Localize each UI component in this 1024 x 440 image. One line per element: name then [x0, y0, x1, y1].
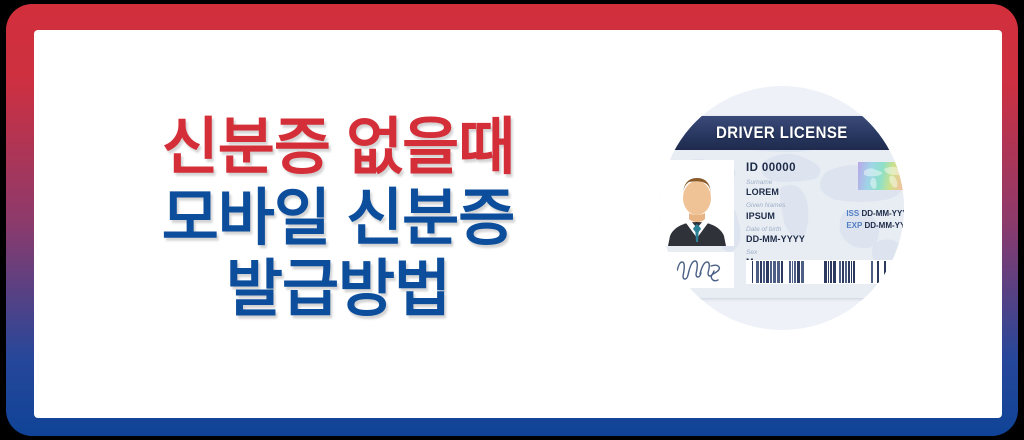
- barcode: [746, 260, 904, 284]
- signature-box: [660, 252, 734, 288]
- driver-license-card: DRIVER LICENSE: [660, 116, 904, 298]
- headline-line-1: 신분증 없을때: [162, 115, 514, 182]
- issue-date-row: ISS DD-MM-YYYY: [846, 208, 904, 220]
- headline-line-3: 발급방법: [226, 255, 450, 324]
- license-illustration: DRIVER LICENSE: [630, 78, 950, 338]
- headline-line-2: 모바일 신분증: [162, 184, 514, 253]
- card-fields: ID 00000 Surname LOREM Given Names IPSUM…: [746, 162, 805, 273]
- card-dates: ISS DD-MM-YYYY EXP DD-MM-YYYY: [846, 208, 904, 231]
- avatar-icon: [660, 160, 734, 246]
- field-value-surname: LOREM: [746, 187, 805, 198]
- field-label-surname: Surname: [746, 179, 805, 187]
- field-label-given-names: Given Names: [746, 202, 805, 210]
- expiry-date-row: EXP DD-MM-YYYY: [846, 220, 904, 232]
- field-label-date-of-birth: Date of birth: [746, 226, 805, 234]
- barcode-icon: [746, 260, 904, 284]
- signature-icon: [664, 254, 730, 284]
- issue-date-key: ISS: [846, 209, 859, 218]
- hologram-world-map-icon: [858, 162, 904, 190]
- banner-title: DRIVER LICENSE: [716, 123, 848, 143]
- poster-canvas: 신분증 없을때 모바일 신분증 발급방법: [0, 0, 1024, 440]
- portrait-photo: [660, 160, 734, 246]
- hologram-patch: [858, 162, 904, 190]
- expiry-date-value: DD-MM-YYYY: [864, 221, 904, 230]
- id-number: ID 00000: [746, 162, 805, 174]
- field-value-date-of-birth: DD-MM-YYYY: [746, 234, 805, 245]
- field-label-sex: Sex: [746, 249, 805, 257]
- card-clip: DRIVER LICENSE: [660, 86, 904, 330]
- expiry-date-key: EXP: [846, 221, 862, 230]
- card-banner: DRIVER LICENSE: [660, 116, 904, 150]
- issue-date-value: DD-MM-YYYY: [861, 209, 904, 218]
- headline-block: 신분증 없을때 모바일 신분증 발급방법: [28, 26, 648, 414]
- field-value-given-names: IPSUM: [746, 211, 805, 222]
